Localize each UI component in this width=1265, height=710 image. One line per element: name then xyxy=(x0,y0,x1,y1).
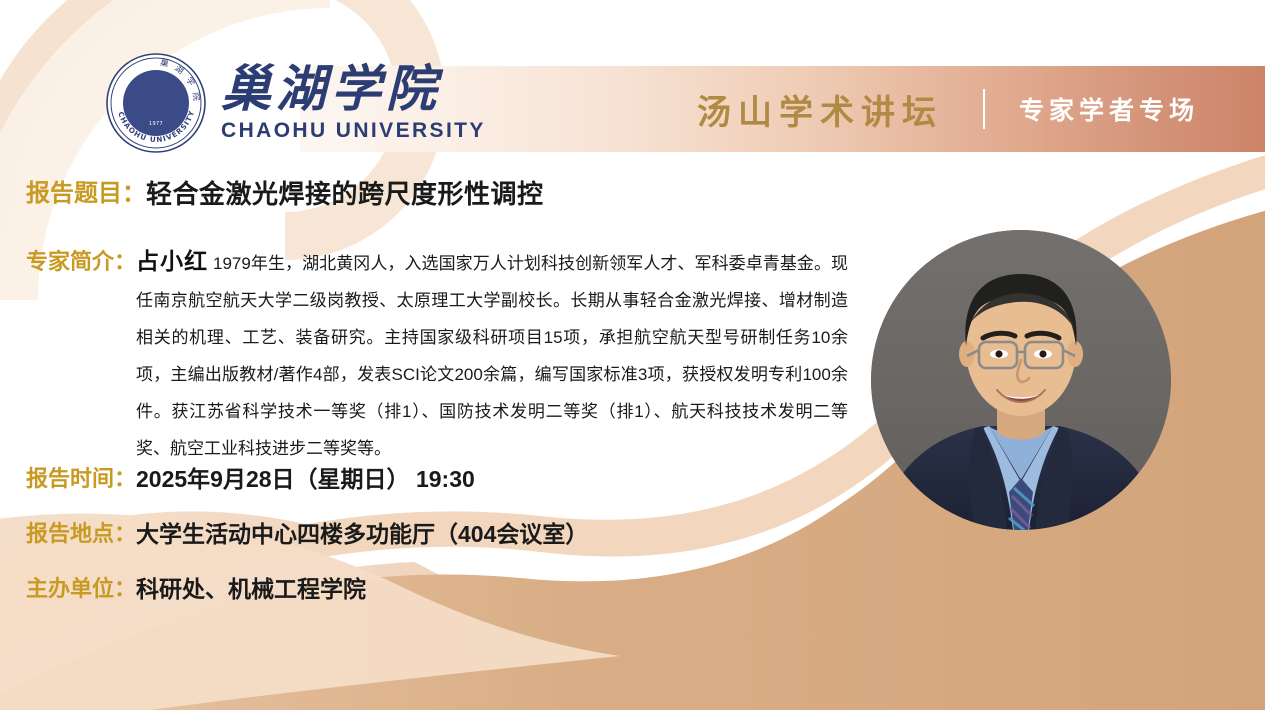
label-speaker-bio: 专家简介： xyxy=(26,243,136,280)
value-report-place: 大学生活动中心四楼多功能厅（404会议室） xyxy=(136,517,588,551)
value-host-unit: 科研处、机械工程学院 xyxy=(136,572,366,606)
seminar-poster: 汤山学术讲坛 专家学者专场 1977 巢 湖 学 院 CHAOHU UNIVER… xyxy=(0,0,1265,710)
label-report-title: 报告题目： xyxy=(26,177,146,211)
speaker-portrait xyxy=(871,230,1171,530)
value-report-title: 轻合金激光焊接的跨尺度形性调控 xyxy=(146,177,544,211)
row-host-unit: 主办单位： 科研处、机械工程学院 xyxy=(26,572,366,606)
speaker-name: 占小红 xyxy=(136,248,208,274)
speaker-bio-body: 占小红 1979年生，湖北黄冈人，入选国家万人计划科技创新领军人才、军科委卓青基… xyxy=(136,243,848,467)
row-speaker-bio: 专家简介： 占小红 1979年生，湖北黄冈人，入选国家万人计划科技创新领军人才、… xyxy=(26,243,876,467)
label-host-unit: 主办单位： xyxy=(26,572,136,606)
row-report-place: 报告地点： 大学生活动中心四楼多功能厅（404会议室） xyxy=(26,517,588,551)
row-report-time: 报告时间： 2025年9月28日（星期日） 19:30 xyxy=(26,462,475,496)
row-report-title: 报告题目： 轻合金激光焊接的跨尺度形性调控 xyxy=(26,177,544,211)
speaker-bio-text: 1979年生，湖北黄冈人，入选国家万人计划科技创新领军人才、军科委卓青基金。现任… xyxy=(136,254,848,458)
value-report-time: 2025年9月28日（星期日） 19:30 xyxy=(136,462,475,496)
label-report-place: 报告地点： xyxy=(26,517,136,551)
label-report-time: 报告时间： xyxy=(26,462,136,496)
